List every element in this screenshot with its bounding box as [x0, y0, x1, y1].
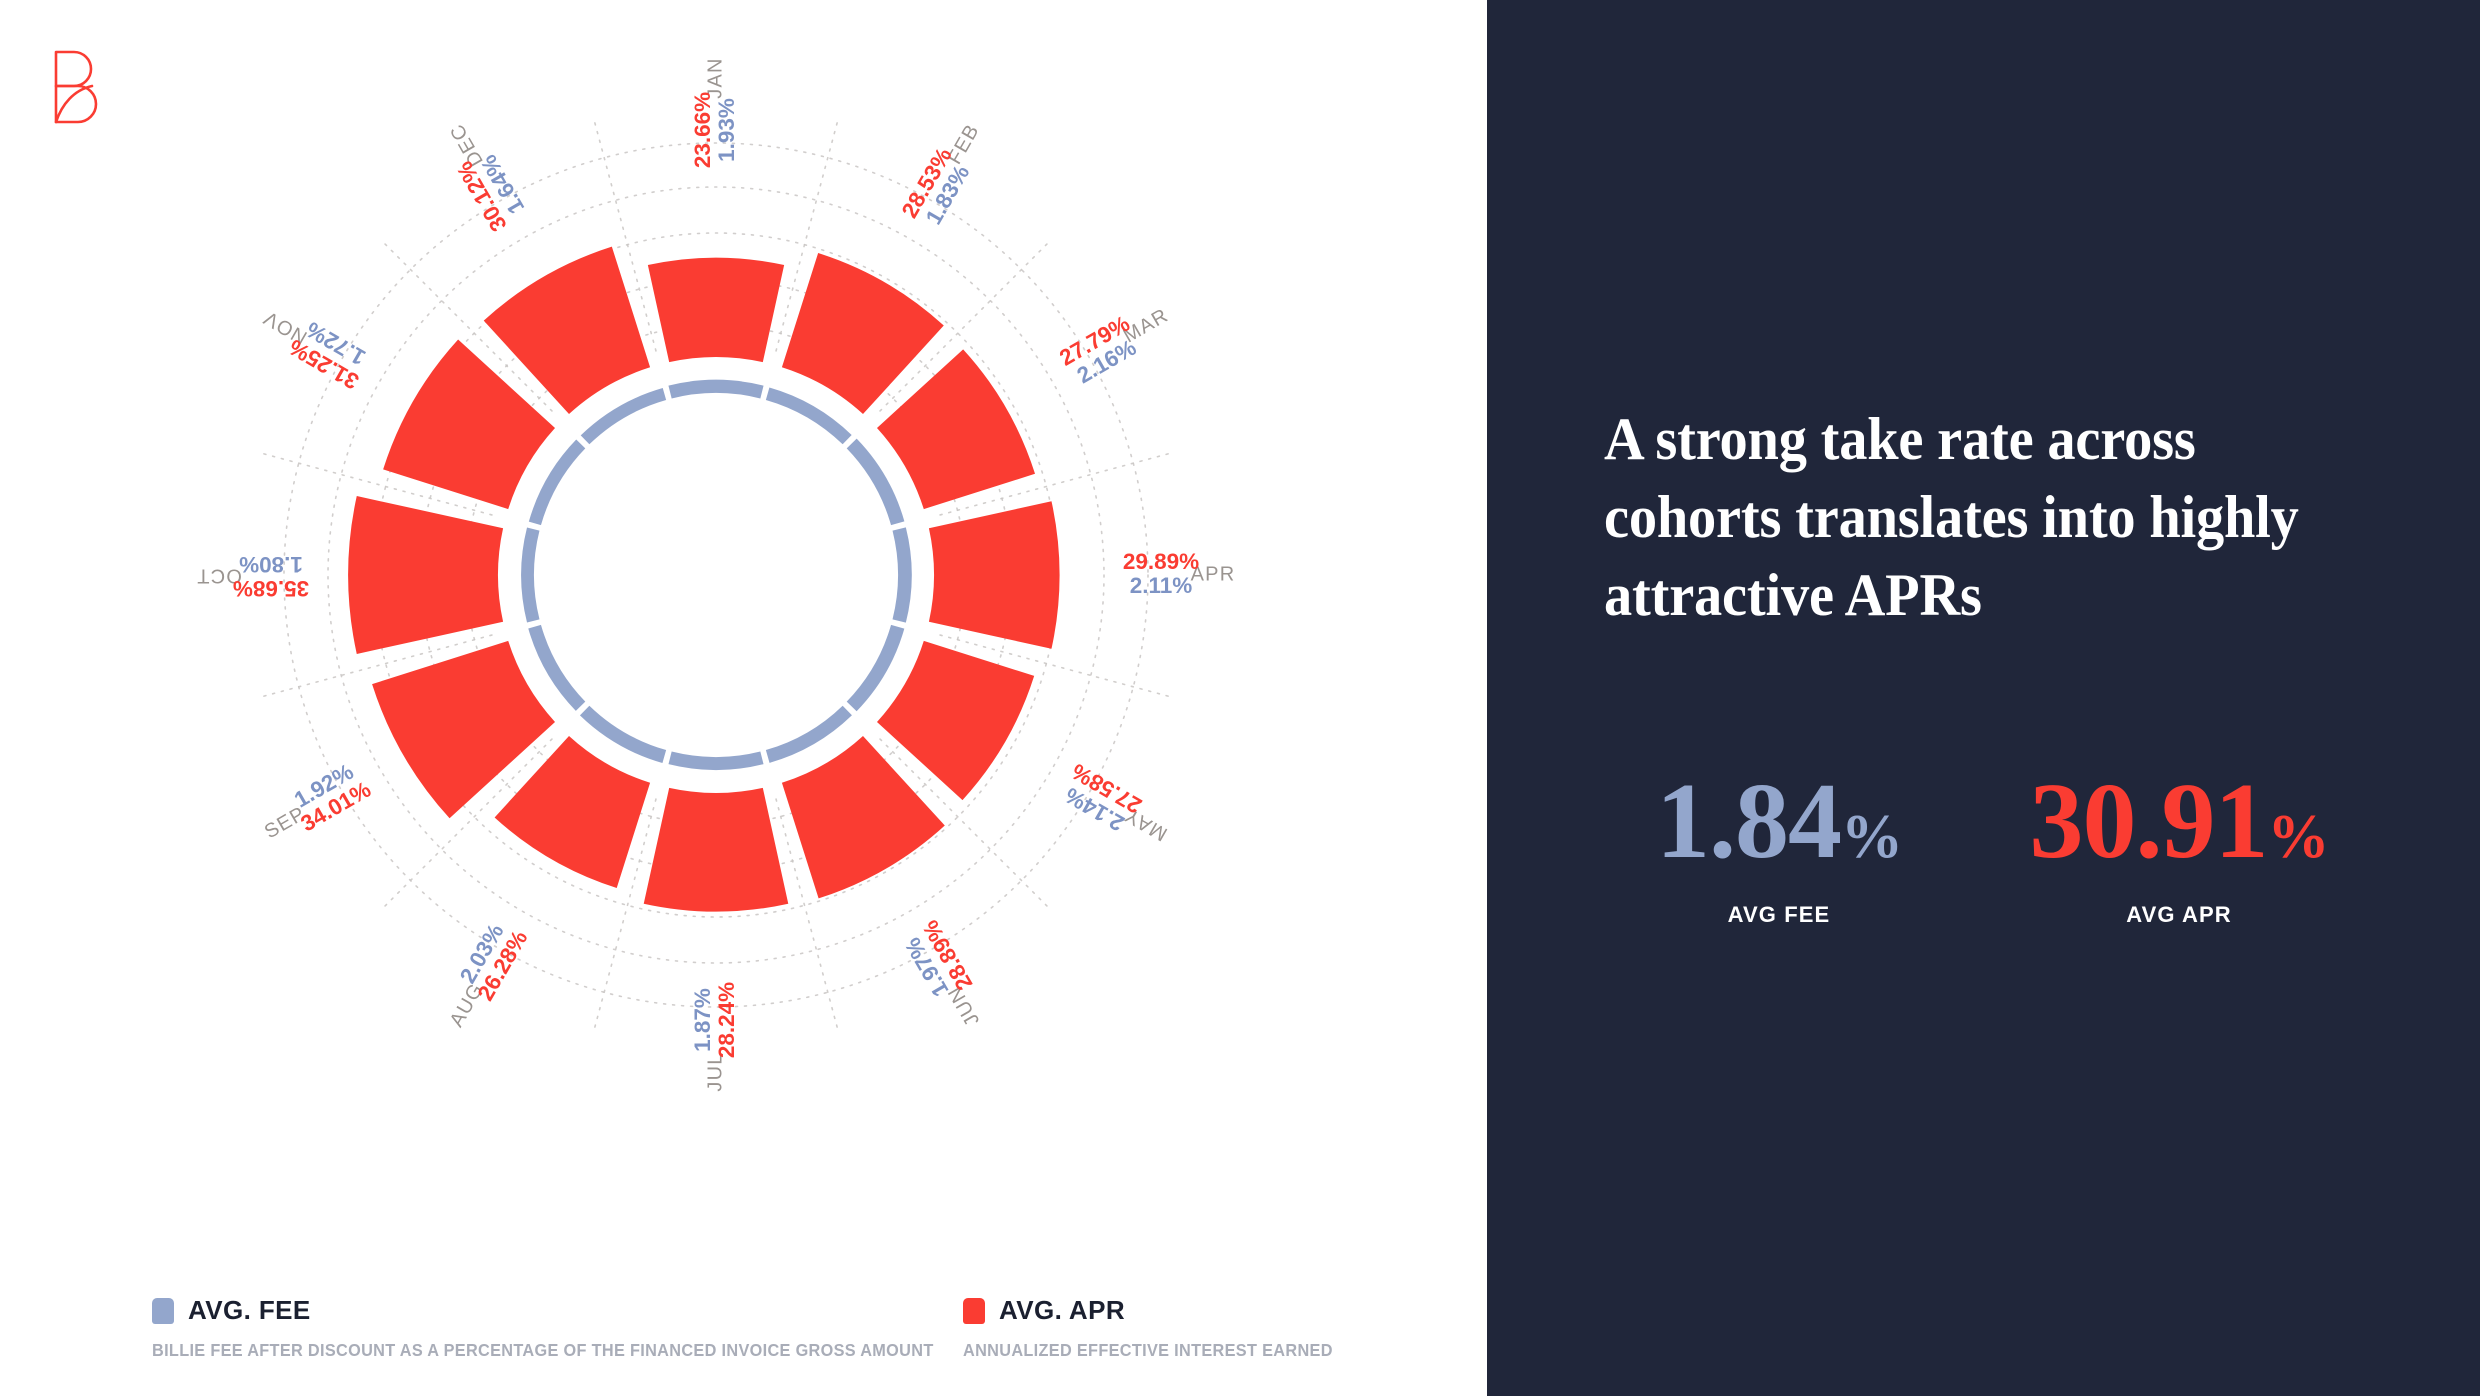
stat-avg-fee: 1.84% AVG FEE [1604, 768, 1954, 928]
fee-ring-segment [766, 706, 852, 763]
apr-bar-segment[interactable] [644, 788, 789, 912]
fee-ring-segment [581, 388, 666, 444]
apr-value-label: 29.89% [1123, 549, 1199, 574]
fee-ring-segment [580, 706, 666, 763]
legend-caption-avg-apr: ANNUALIZED EFFECTIVE INTEREST EARNED [963, 1340, 1333, 1361]
apr-bar-segment[interactable] [348, 496, 503, 654]
stat-suffix-avg-fee: % [1841, 803, 1902, 871]
fee-value-label: 1.87% [690, 988, 715, 1052]
legend-item-avg-fee: AVG. FEE BILLIE FEE AFTER DISCOUNT AS A … [152, 1295, 992, 1361]
fee-value-label: 1.80% [239, 552, 303, 577]
value-labels-oct: 35.68%1.80% [233, 552, 309, 601]
legend-swatch-icon-avg-fee [152, 1298, 174, 1324]
apr-value-label: 35.68% [233, 576, 309, 601]
apr-bar-segment[interactable] [877, 641, 1034, 800]
value-labels-jan: 23.66%1.93% [690, 92, 739, 168]
legend-item-avg-apr: AVG. APR ANNUALIZED EFFECTIVE INTEREST E… [963, 1295, 1361, 1361]
apr-bar-segment[interactable] [929, 501, 1060, 649]
stat-number-avg-fee: 1.84 [1656, 762, 1841, 881]
stat-value-avg-fee: 1.84% [1604, 768, 1954, 876]
fee-ring-segment [529, 440, 585, 526]
stat-label-avg-apr: AVG APR [2004, 902, 2354, 928]
fee-ring-segment [668, 752, 763, 771]
fee-ring-segment [893, 527, 912, 622]
apr-bar-segment[interactable] [495, 736, 650, 888]
chart-panel: JAN23.66%1.93%FEB28.53%1.83%MAR27.79%2.1… [0, 0, 1487, 1396]
fee-ring-segment [766, 388, 852, 445]
polar-chart-svg: JAN23.66%1.93%FEB28.53%1.83%MAR27.79%2.1… [0, 30, 1487, 1260]
legend-head-avg-apr: AVG. APR [963, 1295, 1361, 1326]
apr-bar-segment[interactable] [648, 258, 784, 362]
stats-row: 1.84% AVG FEE 30.91% AVG APR [1604, 768, 2424, 968]
stat-number-avg-apr: 30.91 [2030, 762, 2268, 881]
fee-value-label: 1.93% [714, 98, 739, 162]
fee-ring-segment [847, 625, 905, 711]
stat-suffix-avg-apr: % [2268, 803, 2329, 871]
legend-title-avg-apr: AVG. APR [999, 1295, 1125, 1326]
legend-caption-avg-fee: BILLIE FEE AFTER DISCOUNT AS A PERCENTAG… [152, 1340, 934, 1361]
apr-value-label: 28.24% [714, 982, 739, 1058]
value-labels-apr: 29.89%2.11% [1123, 549, 1199, 598]
fee-ring-segment [521, 528, 539, 623]
apr-bar-segment[interactable] [877, 349, 1035, 509]
fee-ring-segment [668, 380, 763, 399]
summary-panel: A strong take rate across cohorts transl… [1487, 0, 2480, 1396]
legend-head-avg-fee: AVG. FEE [152, 1295, 992, 1326]
fee-ring-segment [847, 439, 905, 525]
legend-swatch-icon-avg-apr [963, 1298, 985, 1324]
legend-title-avg-fee: AVG. FEE [188, 1295, 311, 1326]
value-labels-jul: 28.24%1.87% [690, 982, 739, 1058]
stat-value-avg-apr: 30.91% [2004, 768, 2354, 876]
infographic-root: JAN23.66%1.93%FEB28.53%1.83%MAR27.79%2.1… [0, 0, 2480, 1396]
fee-value-label: 2.11% [1130, 573, 1193, 598]
stat-label-avg-fee: AVG FEE [1604, 902, 1954, 928]
chart-legend: AVG. FEE BILLIE FEE AFTER DISCOUNT AS A … [0, 1295, 1487, 1395]
polar-donut-chart: JAN23.66%1.93%FEB28.53%1.83%MAR27.79%2.1… [0, 30, 1487, 1260]
apr-value-label: 23.66% [690, 92, 715, 168]
stat-avg-apr: 30.91% AVG APR [2004, 768, 2354, 928]
headline-text: A strong take rate across cohorts transl… [1604, 400, 2356, 634]
fee-ring-segment [528, 625, 585, 711]
